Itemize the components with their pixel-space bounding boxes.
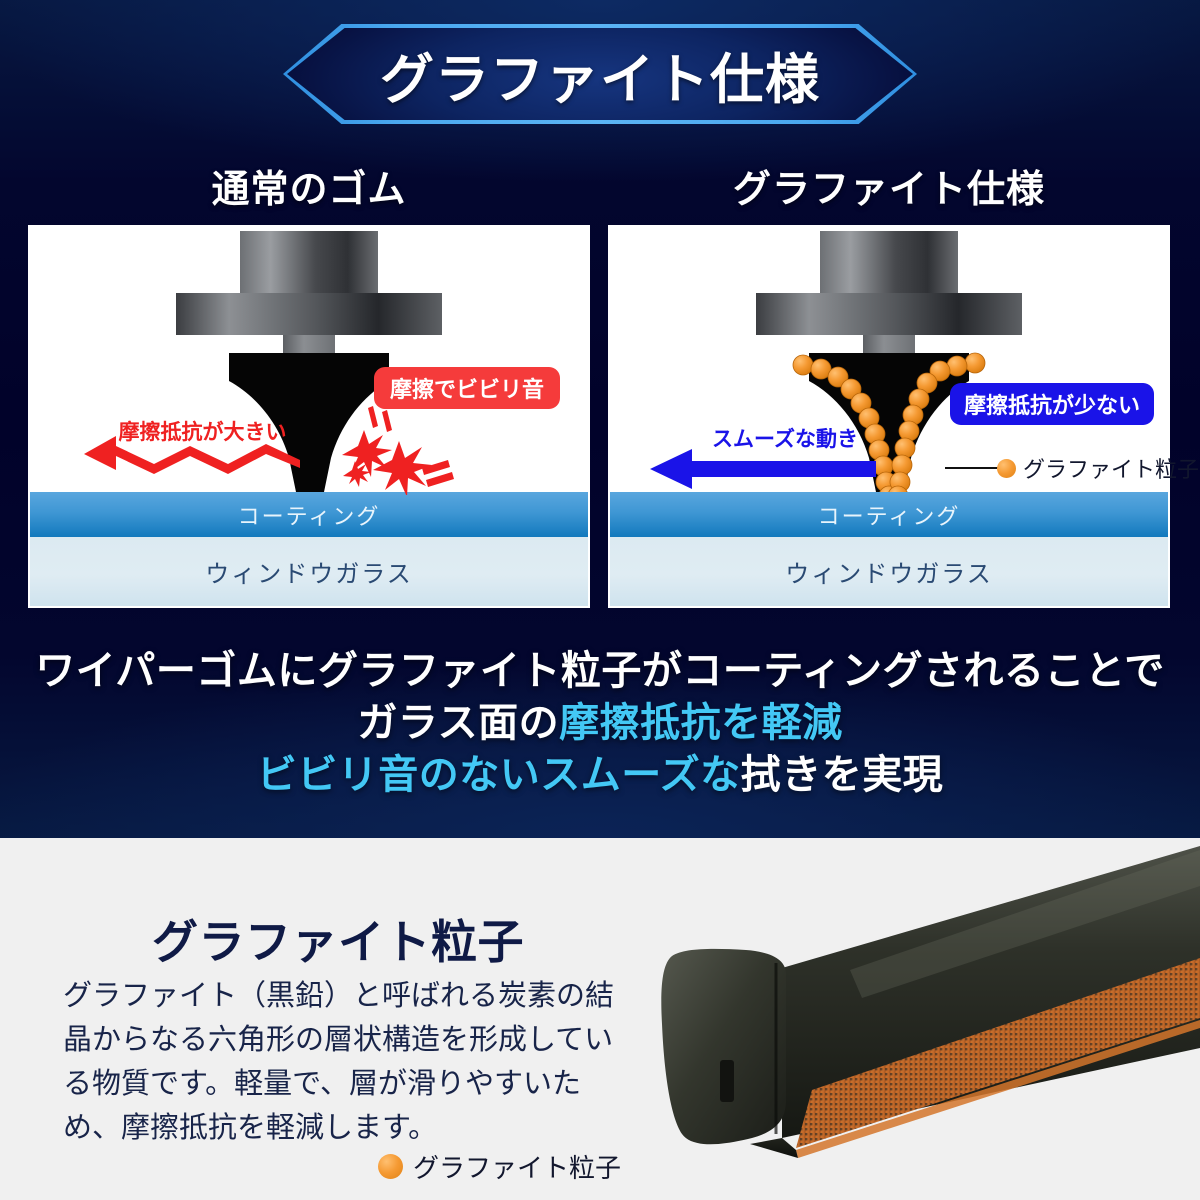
glass-layer-right: ウィンドウガラス (610, 537, 1168, 606)
wiper-blade-photo (600, 838, 1200, 1200)
column-heading-graphite: グラファイト仕様 (608, 160, 1170, 210)
tagline-block: ワイパーゴムにグラファイト粒子がコーティングされることで ガラス面の摩擦抵抗を軽… (0, 645, 1200, 801)
blade-flange-icon (756, 293, 1022, 335)
particle-legend-inline: グラファイト粒子 (997, 452, 1199, 484)
particle-legend-label: グラファイト粒子 (1023, 452, 1199, 484)
graphite-particle-dot-icon (378, 1154, 403, 1179)
graphite-particle-title: グラファイト粒子 (152, 906, 524, 972)
blade-flange-icon (176, 293, 442, 335)
tagline-line-2: ガラス面の摩擦抵抗を軽減 (0, 697, 1200, 749)
title-banner: グラファイト仕様 (283, 24, 917, 124)
badge-low-friction: 摩擦抵抗が少ない (950, 383, 1154, 425)
coating-layer-right: コーティング (610, 492, 1168, 537)
promo-infographic: グラファイト仕様 通常のゴム グラファイト仕様 コーティング ウィンドウガラス (0, 0, 1200, 1200)
graphite-particle-dot-icon (997, 459, 1016, 478)
tagline-line-1: ワイパーゴムにグラファイト粒子がコーティングされることで (0, 645, 1200, 697)
graphite-particle-description: グラファイト（黒鉛）と呼ばれる炭素の結晶からなる六角形の層状構造を形成している物… (63, 974, 633, 1150)
smooth-motion-arrow-icon (648, 448, 878, 490)
graphite-particle-legend-label: グラファイト粒子 (413, 1148, 621, 1185)
diagram-panel-normal-rubber: コーティング ウィンドウガラス (28, 225, 590, 608)
glass-layer-left: ウィンドウガラス (30, 537, 588, 606)
particle-leader-line (945, 467, 1001, 469)
graphite-particle-description-text: グラファイト（黒鉛）と呼ばれる炭素の結晶からなる六角形の層状構造を形成している物… (63, 974, 633, 1150)
bottom-light-section: グラファイト粒子 グラファイト（黒鉛）と呼ばれる炭素の結晶からなる六角形の層状構… (0, 838, 1200, 1200)
high-friction-arrow-icon (82, 418, 302, 488)
column-heading-normal: 通常のゴム (28, 160, 590, 210)
banner-title-text: グラファイト仕様 (283, 24, 917, 124)
coating-label-right: コーティング (818, 499, 961, 531)
blade-cap-icon (240, 231, 378, 293)
tagline-line-3: ビビリ音のないスムーズな拭きを実現 (0, 749, 1200, 801)
blade-cap-icon (820, 231, 958, 293)
glass-label-right: ウィンドウガラス (785, 554, 993, 589)
coating-layer-left: コーティング (30, 492, 588, 537)
graphite-particle-legend: グラファイト粒子 (378, 1148, 621, 1185)
friction-sparks-icon (330, 400, 460, 495)
coating-label-left: コーティング (238, 499, 381, 531)
glass-label-left: ウィンドウガラス (205, 554, 413, 589)
top-dark-section: グラファイト仕様 通常のゴム グラファイト仕様 コーティング ウィンドウガラス (0, 0, 1200, 838)
